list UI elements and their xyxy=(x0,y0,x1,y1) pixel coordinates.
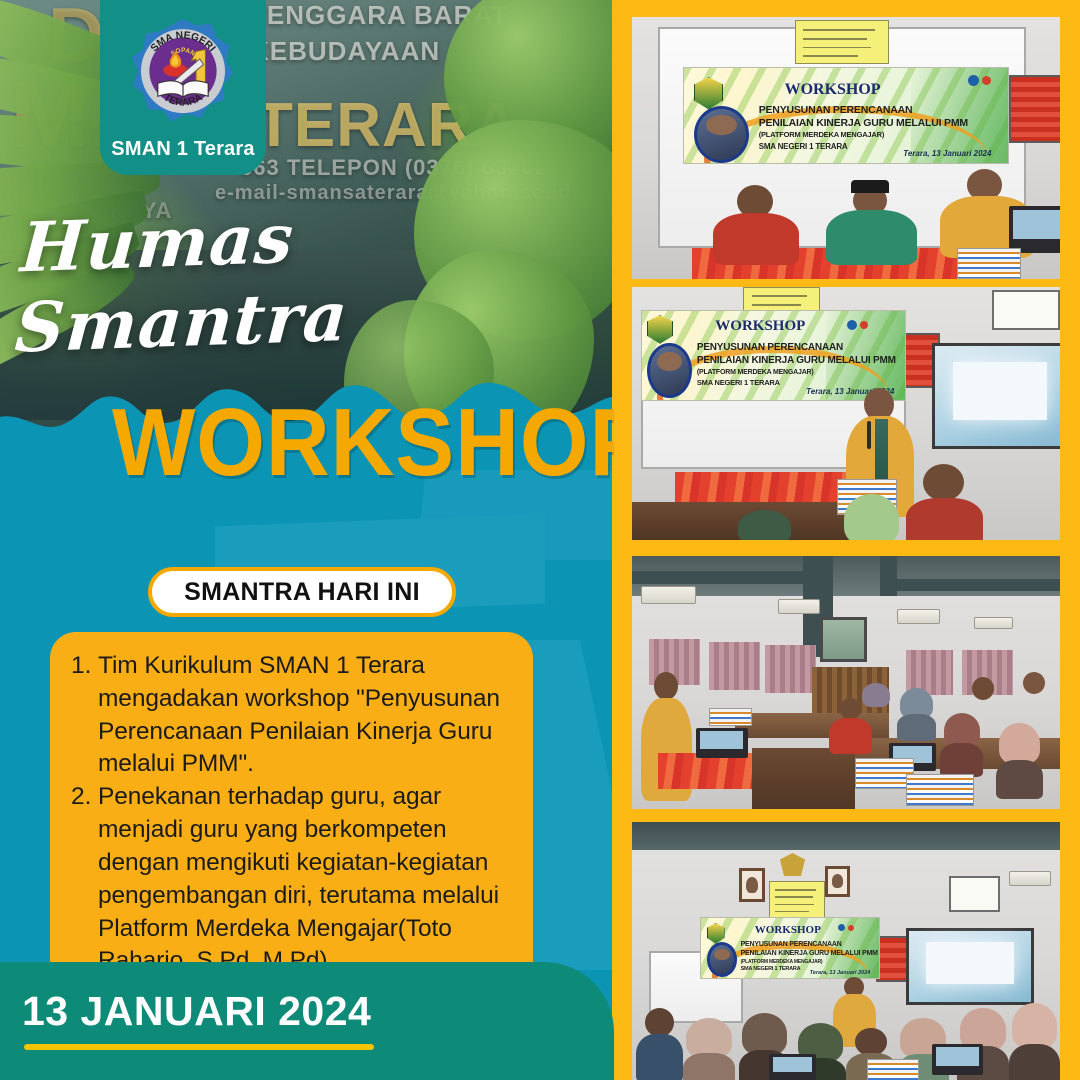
poster-yellow xyxy=(769,881,825,922)
page-title: WORKSHOP xyxy=(112,395,614,491)
poster-text-line xyxy=(752,295,808,297)
poster-text-line xyxy=(775,911,808,913)
banner-line-1: PENYUSUNAN PERENCANAAN xyxy=(759,104,913,116)
head xyxy=(840,698,861,720)
poster-white xyxy=(992,290,1060,330)
hijab xyxy=(738,510,791,540)
date-footer-band: 13 JANUARI 2024 xyxy=(0,962,614,1080)
head xyxy=(923,464,965,501)
photo-audience-back: WORKSHOP PENYUSUNAN PERENCANAAN PENILAIA… xyxy=(632,822,1060,1080)
banner-line-1: PENYUSUNAN PERENCANAAN xyxy=(741,941,842,948)
logo-dot xyxy=(848,925,854,931)
banner-title: WORKSHOP xyxy=(755,924,821,936)
torso xyxy=(683,1053,734,1080)
banner-line-3: (PLATFORM MERDEKA MENGAJAR) xyxy=(697,369,814,376)
logo-dot xyxy=(968,75,979,86)
banner-title: WORKSHOP xyxy=(785,81,881,99)
list-item: Penekanan terhadap guru, agar menjadi gu… xyxy=(98,781,511,978)
audience-person xyxy=(636,1008,683,1080)
projector-screen xyxy=(932,343,1060,449)
air-conditioner xyxy=(641,586,697,604)
torso xyxy=(826,210,916,265)
head xyxy=(645,1008,674,1037)
school-badge: SMA NEGERI TERARA SOPAN xyxy=(100,0,266,175)
photo-speaker-microphone: WORKSHOP PENYUSUNAN PERENCANAAN PENILAIA… xyxy=(632,287,1060,540)
banner-line-2: PENILAIAN KINERJA GURU MELALUI PMM xyxy=(697,355,896,366)
curtain xyxy=(709,642,760,690)
hijab xyxy=(999,723,1040,764)
projector-screen xyxy=(906,928,1034,1005)
air-conditioner xyxy=(778,599,821,614)
script-headline: Humas Smantra xyxy=(13,187,614,368)
desk xyxy=(752,748,855,809)
audience-person xyxy=(906,464,983,540)
head xyxy=(972,677,994,700)
head xyxy=(855,1028,887,1055)
logo-dot xyxy=(838,924,845,931)
table-cloth xyxy=(675,472,846,502)
event-date: 13 JANUARI 2024 xyxy=(22,988,371,1035)
book-stack xyxy=(957,248,1021,279)
seated-person xyxy=(825,182,919,263)
audience-person xyxy=(683,1018,734,1080)
portrait-frame xyxy=(825,866,851,897)
ceiling-beam xyxy=(632,571,803,584)
head xyxy=(1023,672,1045,694)
banner-date: Terara, 13 Januari 2024 xyxy=(810,970,871,976)
poster-text-line xyxy=(775,896,813,898)
torso xyxy=(1009,1044,1060,1080)
torso xyxy=(636,1034,683,1080)
laptop xyxy=(696,728,747,758)
date-underline-rule xyxy=(24,1044,374,1050)
section-badge-label: SMANTRA HARI INI xyxy=(184,578,420,607)
torso xyxy=(996,760,1043,800)
hijab xyxy=(844,494,899,540)
photo-classroom-wide xyxy=(632,556,1060,809)
microphone xyxy=(867,421,872,449)
air-conditioner xyxy=(897,609,940,624)
audience-person xyxy=(940,713,983,774)
portrait-frame xyxy=(739,868,765,902)
section-badge: SMANTRA HARI INI xyxy=(148,567,456,617)
poster-text-line xyxy=(803,55,858,57)
slide-content xyxy=(953,362,1047,420)
left-content-column: TENGGARA BARAT KEBUDAYAAN DIN MA TERARA … xyxy=(0,0,614,1080)
slide-content xyxy=(926,942,1014,983)
torso xyxy=(713,213,800,265)
laptop xyxy=(1009,206,1060,253)
ceiling xyxy=(632,822,1060,850)
banner-line-1: PENYUSUNAN PERENCANAAN xyxy=(697,342,843,353)
audience-person xyxy=(1017,672,1051,710)
seated-person xyxy=(709,185,803,264)
book-stack xyxy=(709,708,752,726)
partner-logos xyxy=(847,320,868,330)
photo-gallery-panel: WORKSHOP PENYUSUNAN PERENCANAAN PENILAIA… xyxy=(612,0,1080,1080)
photo-panel-speakers: WORKSHOP PENYUSUNAN PERENCANAAN PENILAIA… xyxy=(632,17,1060,279)
partner-logos xyxy=(968,75,991,86)
logo-dot xyxy=(982,76,991,85)
head xyxy=(654,672,678,700)
air-conditioner xyxy=(1009,871,1052,886)
banner-line-3: (PLATFORM MERDEKA MENGAJAR) xyxy=(741,959,823,965)
poster-text-line xyxy=(752,304,802,306)
banner-line-2: PENILAIAN KINERJA GURU MELALUI PMM xyxy=(741,950,878,957)
logo-dot xyxy=(860,321,868,329)
audience-person xyxy=(735,510,795,540)
torso xyxy=(897,714,936,741)
speaker-portrait xyxy=(647,343,692,398)
hijab xyxy=(862,683,891,707)
poster-text-line xyxy=(803,29,875,31)
laptop xyxy=(769,1054,816,1080)
ceiling-beam xyxy=(897,579,1060,592)
content-list: Tim Kurikulum SMAN 1 Terara mengadakan w… xyxy=(68,650,511,978)
hijab xyxy=(742,1013,787,1055)
logo-dot xyxy=(847,320,857,330)
audience-person xyxy=(996,723,1043,794)
event-banner: WORKSHOP PENYUSUNAN PERENCANAAN PENILAIA… xyxy=(700,917,880,979)
book-stack xyxy=(867,1059,918,1080)
banner-line-4: SMA NEGERI 1 TERARA xyxy=(697,378,780,387)
air-conditioner xyxy=(974,617,1013,630)
partner-logos xyxy=(838,924,854,931)
badge-label: SMAN 1 Terara xyxy=(111,138,254,161)
audience-person xyxy=(837,494,905,540)
torso xyxy=(940,743,983,777)
banner-line-3: (PLATFORM MERDEKA MENGAJAR) xyxy=(759,130,884,139)
torso xyxy=(829,718,872,755)
audience-person xyxy=(859,683,893,723)
laptop xyxy=(932,1044,983,1075)
book-stack xyxy=(906,774,974,807)
event-banner: WORKSHOP PENYUSUNAN PERENCANAAN PENILAIA… xyxy=(683,67,1008,164)
banner-line-4: SMA NEGERI 1 TERARA xyxy=(741,966,801,972)
poster-yellow xyxy=(795,20,889,65)
list-item: Tim Kurikulum SMAN 1 Terara mengadakan w… xyxy=(98,650,511,781)
window xyxy=(820,617,867,663)
poster-text-line xyxy=(803,47,871,49)
ceiling-beam xyxy=(880,556,897,596)
event-banner: WORKSHOP PENYUSUNAN PERENCANAAN PENILAIA… xyxy=(641,310,906,401)
torso xyxy=(906,498,983,540)
banner-line-2: PENILAIAN KINERJA GURU MELALUI PMM xyxy=(759,117,968,129)
poster-text-line xyxy=(775,904,814,906)
poster-canvas: TENGGARA BARAT KEBUDAYAAN DIN MA TERARA … xyxy=(0,0,1080,1080)
poster-text-line xyxy=(775,889,816,891)
peci-cap xyxy=(851,180,889,193)
content-card: Tim Kurikulum SMAN 1 Terara mengadakan w… xyxy=(50,632,533,998)
poster-red-chart xyxy=(1009,75,1060,143)
hijab xyxy=(1012,1003,1057,1049)
curtain xyxy=(765,645,816,693)
speaker-portrait xyxy=(707,942,737,977)
speaker-portrait xyxy=(694,106,749,163)
school-seal-logo: SMA NEGERI TERARA SOPAN xyxy=(127,16,239,128)
poster-white xyxy=(949,876,1000,912)
audience-person xyxy=(966,677,1000,715)
audience-person xyxy=(1009,1003,1060,1080)
banner-line-4: SMA NEGERI 1 TERARA xyxy=(759,142,848,151)
banner-title: WORKSHOP xyxy=(715,318,805,335)
poster-text-line xyxy=(803,38,868,40)
banner-date: Terara, 13 Januari 2024 xyxy=(903,149,991,158)
audience-person xyxy=(897,688,936,739)
